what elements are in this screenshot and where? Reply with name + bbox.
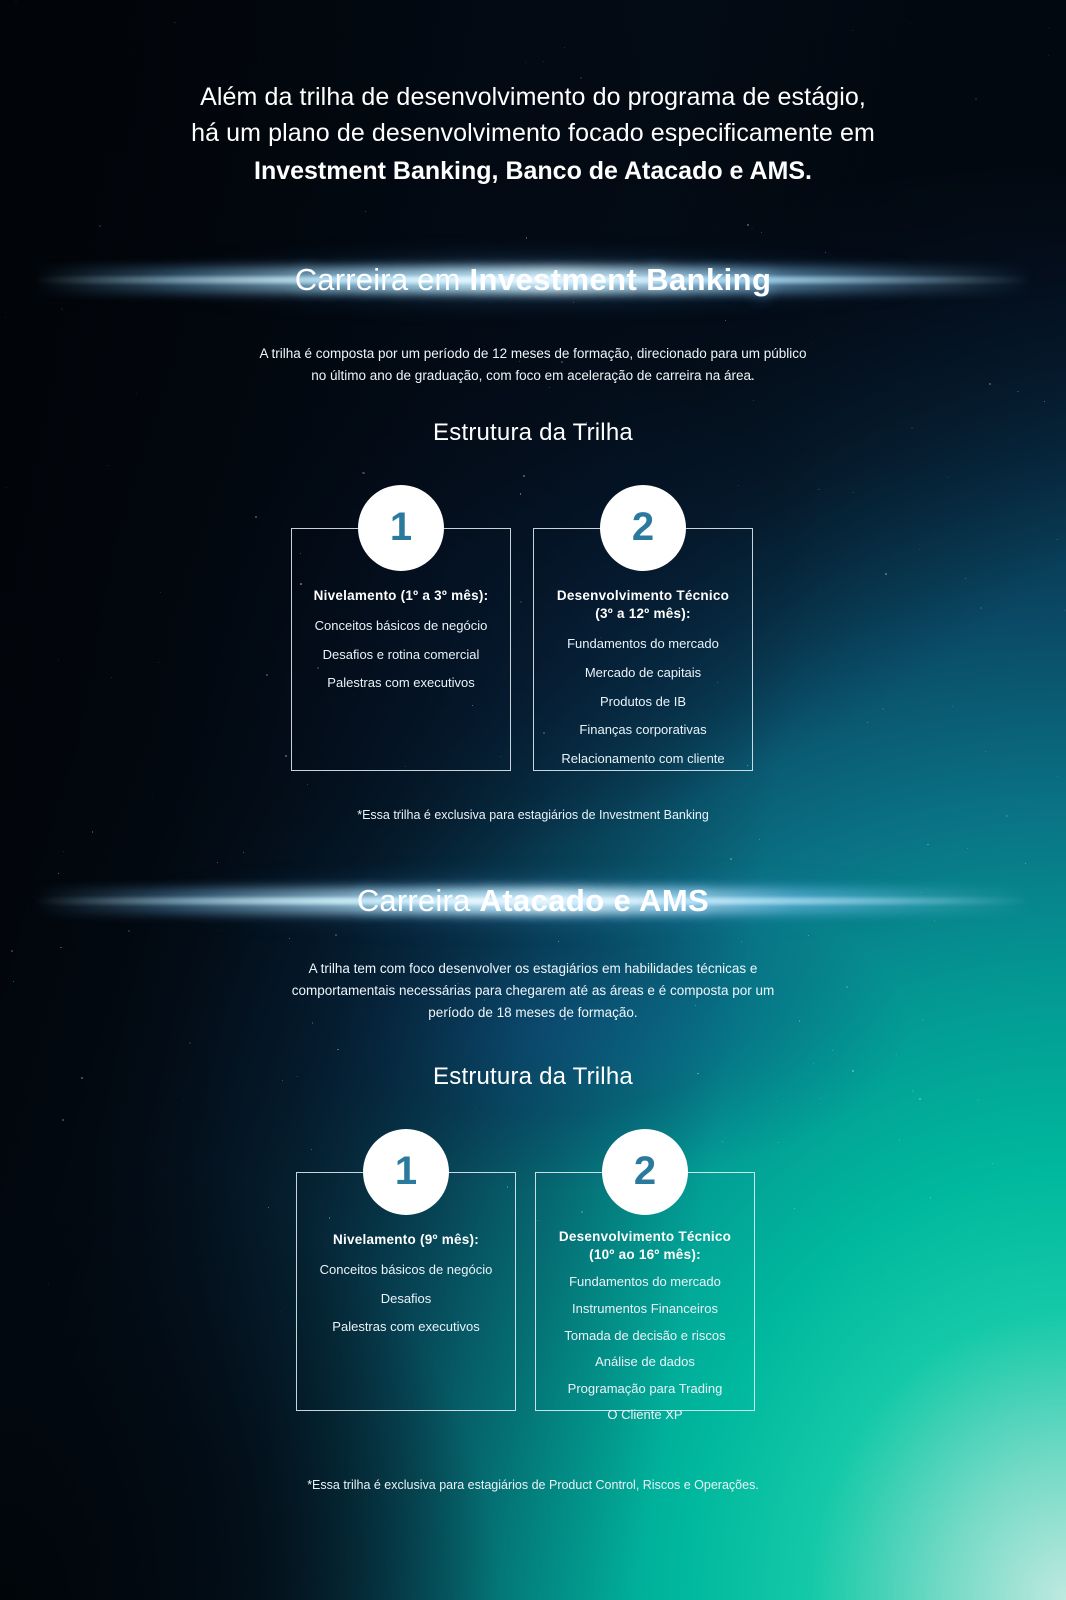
card-item: Relacionamento com cliente bbox=[548, 751, 738, 767]
section-title-banner-1: Carreira em Investment Banking bbox=[0, 232, 1066, 328]
card-item: Fundamentos do mercado bbox=[548, 636, 738, 652]
card-item: Análise de dados bbox=[550, 1354, 740, 1370]
card-item: Desafios e rotina comercial bbox=[306, 647, 496, 663]
section-1-note: *Essa trilha é exclusiva para estagiário… bbox=[0, 808, 1066, 822]
card-item: Conceitos básicos de negócio bbox=[311, 1262, 501, 1278]
section-2-lead-line-2: comportamentais necessárias para chegare… bbox=[0, 980, 1066, 1002]
section-title-2: Carreira Atacado e AMS bbox=[0, 853, 1066, 949]
section-title-1-bold: Investment Banking bbox=[470, 262, 772, 298]
intro-line-2: há um plano de desenvolvimento focado es… bbox=[0, 116, 1066, 152]
card-item: Produtos de IB bbox=[548, 694, 738, 710]
section-2-lead-line-1: A trilha tem com foco desenvolver os est… bbox=[0, 958, 1066, 980]
card-heading: Nivelamento (1º a 3º mês): bbox=[306, 587, 496, 605]
section-2-cards: 1 Nivelamento (9º mês): Conceitos básico… bbox=[0, 1172, 1066, 1412]
card-heading: Nivelamento (9º mês): bbox=[311, 1231, 501, 1249]
card-number-badge: 2 bbox=[600, 485, 686, 571]
card-heading-line: (10º ao 16º mês): bbox=[550, 1246, 740, 1264]
section-2-note: *Essa trilha é exclusiva para estagiário… bbox=[0, 1478, 1066, 1492]
section-1-cards: 1 Nivelamento (1º a 3º mês): Conceitos b… bbox=[0, 528, 1066, 778]
intro-heading: Além da trilha de desenvolvimento do pro… bbox=[0, 80, 1066, 190]
card-heading-line: Desenvolvimento Técnico bbox=[550, 1228, 740, 1246]
card-item: Fundamentos do mercado bbox=[550, 1274, 740, 1290]
card-2-1[interactable]: 1 Nivelamento (9º mês): Conceitos básico… bbox=[296, 1172, 516, 1411]
section-1-structure-heading: Estrutura da Trilha bbox=[0, 419, 1066, 447]
card-heading-line: (3º a 12º mês): bbox=[548, 605, 738, 623]
card-item: Instrumentos Financeiros bbox=[550, 1301, 740, 1317]
section-title-2-bold: Atacado e AMS bbox=[479, 883, 709, 919]
section-2-lead: A trilha tem com foco desenvolver os est… bbox=[0, 958, 1066, 1024]
card-number-badge: 1 bbox=[363, 1129, 449, 1215]
content-root: Além da trilha de desenvolvimento do pro… bbox=[0, 0, 1066, 1600]
section-2-structure-heading: Estrutura da Trilha bbox=[0, 1063, 1066, 1091]
card-item: Palestras com executivos bbox=[306, 675, 496, 691]
section-1-lead-line-1: A trilha é composta por um período de 12… bbox=[0, 343, 1066, 365]
card-item: Finanças corporativas bbox=[548, 722, 738, 738]
section-1-lead-line-2: no último ano de graduação, com foco em … bbox=[0, 365, 1066, 387]
section-title-1: Carreira em Investment Banking bbox=[0, 232, 1066, 328]
card-heading-line: Desenvolvimento Técnico bbox=[548, 587, 738, 605]
card-number-badge: 1 bbox=[358, 485, 444, 571]
card-heading: Desenvolvimento Técnico (10º ao 16º mês)… bbox=[550, 1228, 740, 1264]
card-item: Programação para Trading bbox=[550, 1381, 740, 1397]
intro-line-3: Investment Banking, Banco de Atacado e A… bbox=[0, 154, 1066, 190]
card-number-badge: 2 bbox=[602, 1129, 688, 1215]
card-heading-line: Nivelamento (9º mês): bbox=[311, 1231, 501, 1249]
card-item: Mercado de capitais bbox=[548, 665, 738, 681]
card-heading: Desenvolvimento Técnico (3º a 12º mês): bbox=[548, 587, 738, 623]
section-title-2-normal: Carreira bbox=[357, 883, 471, 919]
card-item: Conceitos básicos de negócio bbox=[306, 618, 496, 634]
section-2-lead-line-3: período de 18 meses de formação. bbox=[0, 1002, 1066, 1024]
card-item: O Cliente XP bbox=[550, 1407, 740, 1423]
card-heading-line: Nivelamento (1º a 3º mês): bbox=[306, 587, 496, 605]
infographic-page: Além da trilha de desenvolvimento do pro… bbox=[0, 0, 1066, 1600]
section-title-banner-2: Carreira Atacado e AMS bbox=[0, 853, 1066, 949]
card-1-2[interactable]: 2 Desenvolvimento Técnico (3º a 12º mês)… bbox=[533, 528, 753, 771]
card-2-2[interactable]: 2 Desenvolvimento Técnico (10º ao 16º mê… bbox=[535, 1172, 755, 1411]
card-item: Desafios bbox=[311, 1291, 501, 1307]
intro-line-1: Além da trilha de desenvolvimento do pro… bbox=[0, 80, 1066, 116]
card-1-1[interactable]: 1 Nivelamento (1º a 3º mês): Conceitos b… bbox=[291, 528, 511, 771]
section-1-lead: A trilha é composta por um período de 12… bbox=[0, 343, 1066, 387]
section-title-1-normal: Carreira em bbox=[295, 262, 461, 298]
card-item: Tomada de decisão e riscos bbox=[550, 1328, 740, 1344]
card-item: Palestras com executivos bbox=[311, 1319, 501, 1335]
